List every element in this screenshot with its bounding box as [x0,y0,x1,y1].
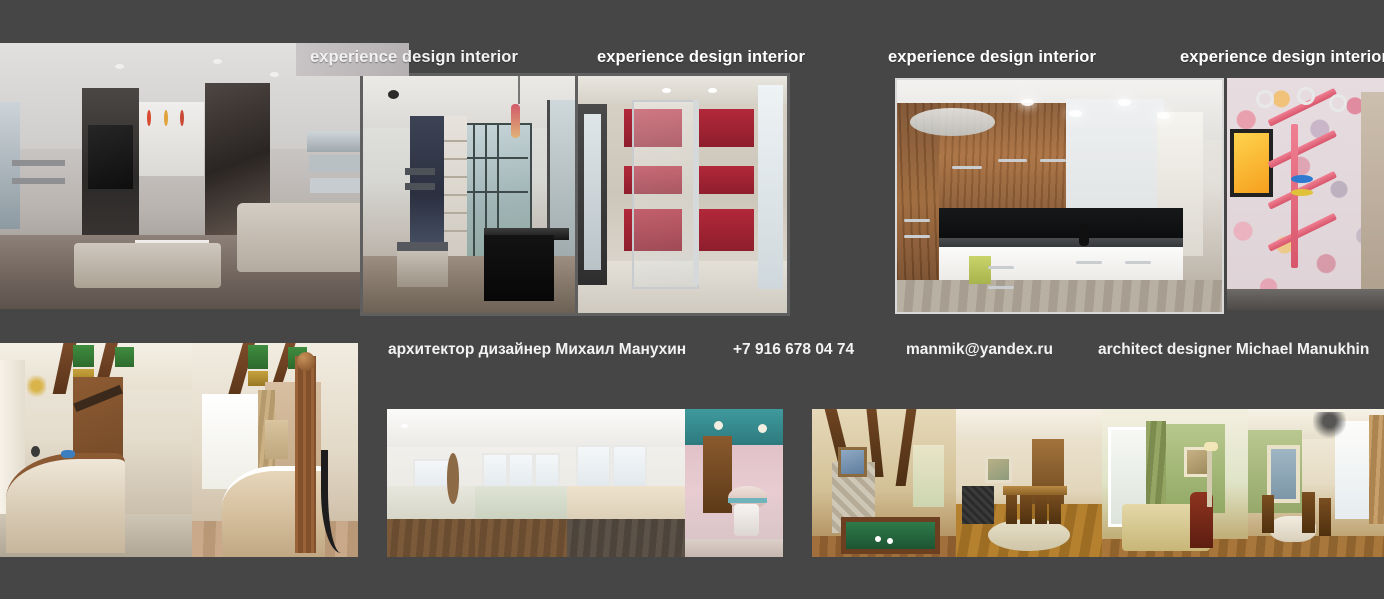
contact-email[interactable]: manmik@yandex.ru [906,341,1053,359]
photo-bathroom-vanity[interactable] [685,409,783,557]
photo-bedroom-green[interactable] [1102,409,1248,557]
photo-loft-glass[interactable] [360,73,578,316]
photo-renovation-2[interactable] [475,409,567,557]
photo-living-room[interactable] [0,43,409,309]
contact-role-ru: архитектор дизайнер Михаил Манухин [388,341,686,359]
photo-wood-kitchen[interactable] [895,78,1224,314]
caption-3: experience design interior [888,48,1096,67]
contact-role-en: architect designer Michael Manukhin [1098,341,1369,359]
photo-renovation-3[interactable] [567,409,685,557]
caption-1: experience design interior [310,48,518,67]
contact-phone[interactable]: +7 916 678 04 74 [733,341,854,359]
photo-renovation-1[interactable] [387,409,475,557]
photo-red-bathroom[interactable] [575,73,790,316]
photo-dining-green[interactable] [1248,409,1384,557]
caption-2: experience design interior [597,48,805,67]
photo-dining-classic[interactable] [956,409,1102,557]
photo-classic-hall-pillar[interactable] [192,343,358,557]
caption-4: experience design interior [1180,48,1384,67]
photo-attic-billiards[interactable] [812,409,956,557]
page-root: experience design interior experience de… [0,0,1384,599]
photo-classic-hall-bar[interactable] [0,343,192,557]
photo-pink-shelves[interactable] [1227,78,1384,310]
